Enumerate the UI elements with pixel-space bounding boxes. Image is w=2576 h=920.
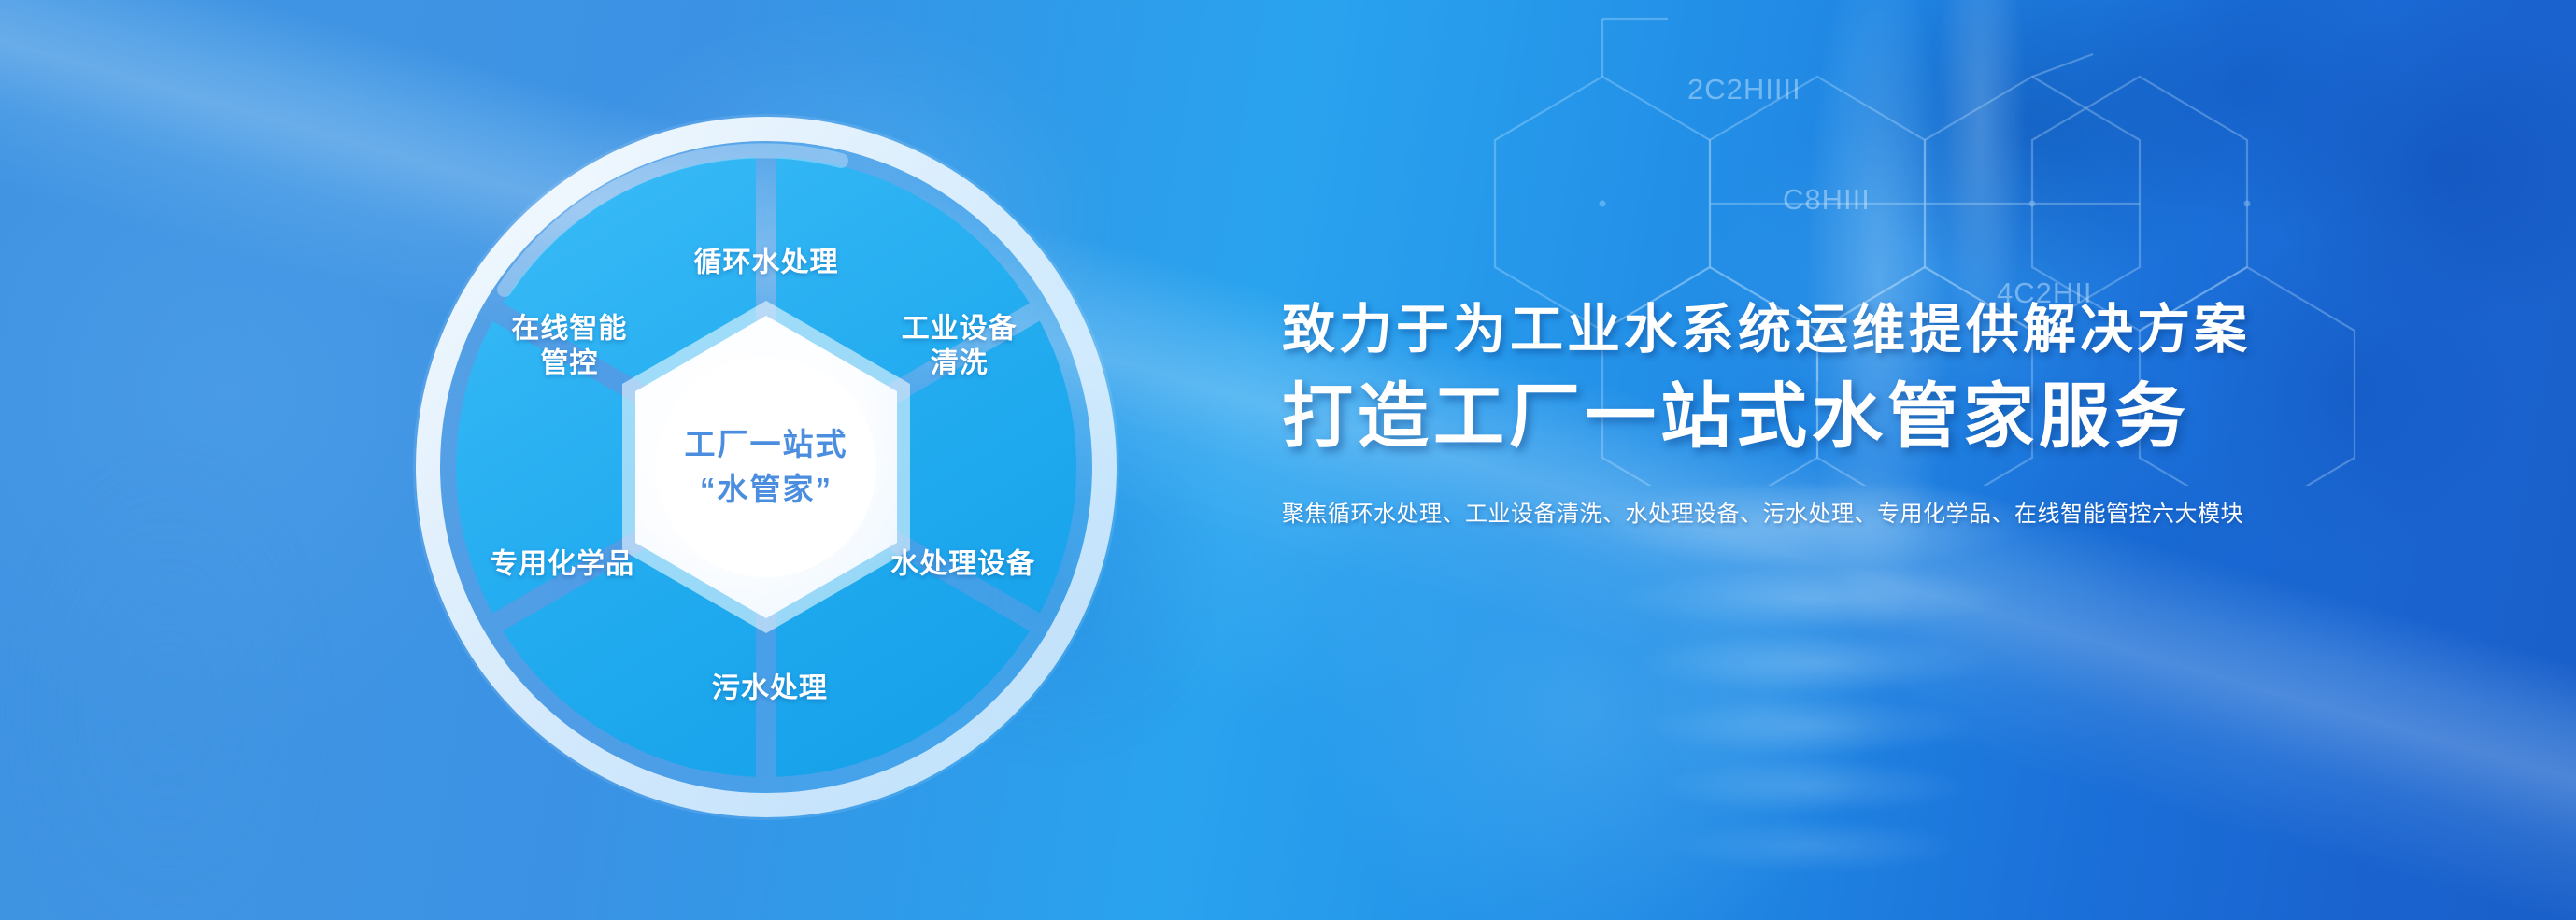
headline-secondary: 打造工厂一站式水管家服务 [1282,375,2497,460]
banner-root: 2C2HIIII C8HIII 4C2HII [0,0,2576,920]
headline-block: 致力于为工业水系统运维提供解决方案 打造工厂一站式水管家服务 聚焦循环水处理、工… [1282,301,2497,530]
subheadline: 聚焦循环水处理、工业设备清洗、水处理设备、污水处理、专用化学品、在线智能管控六大… [1282,499,2497,531]
service-wheel-diagram: 循环水处理 工业设备 清洗 水处理设备 污水处理 专用化学品 在线智能 管控 工… [402,103,1131,831]
headline-primary: 致力于为工业水系统运维提供解决方案 [1282,301,2497,361]
background-water-bottle [1458,486,2168,920]
